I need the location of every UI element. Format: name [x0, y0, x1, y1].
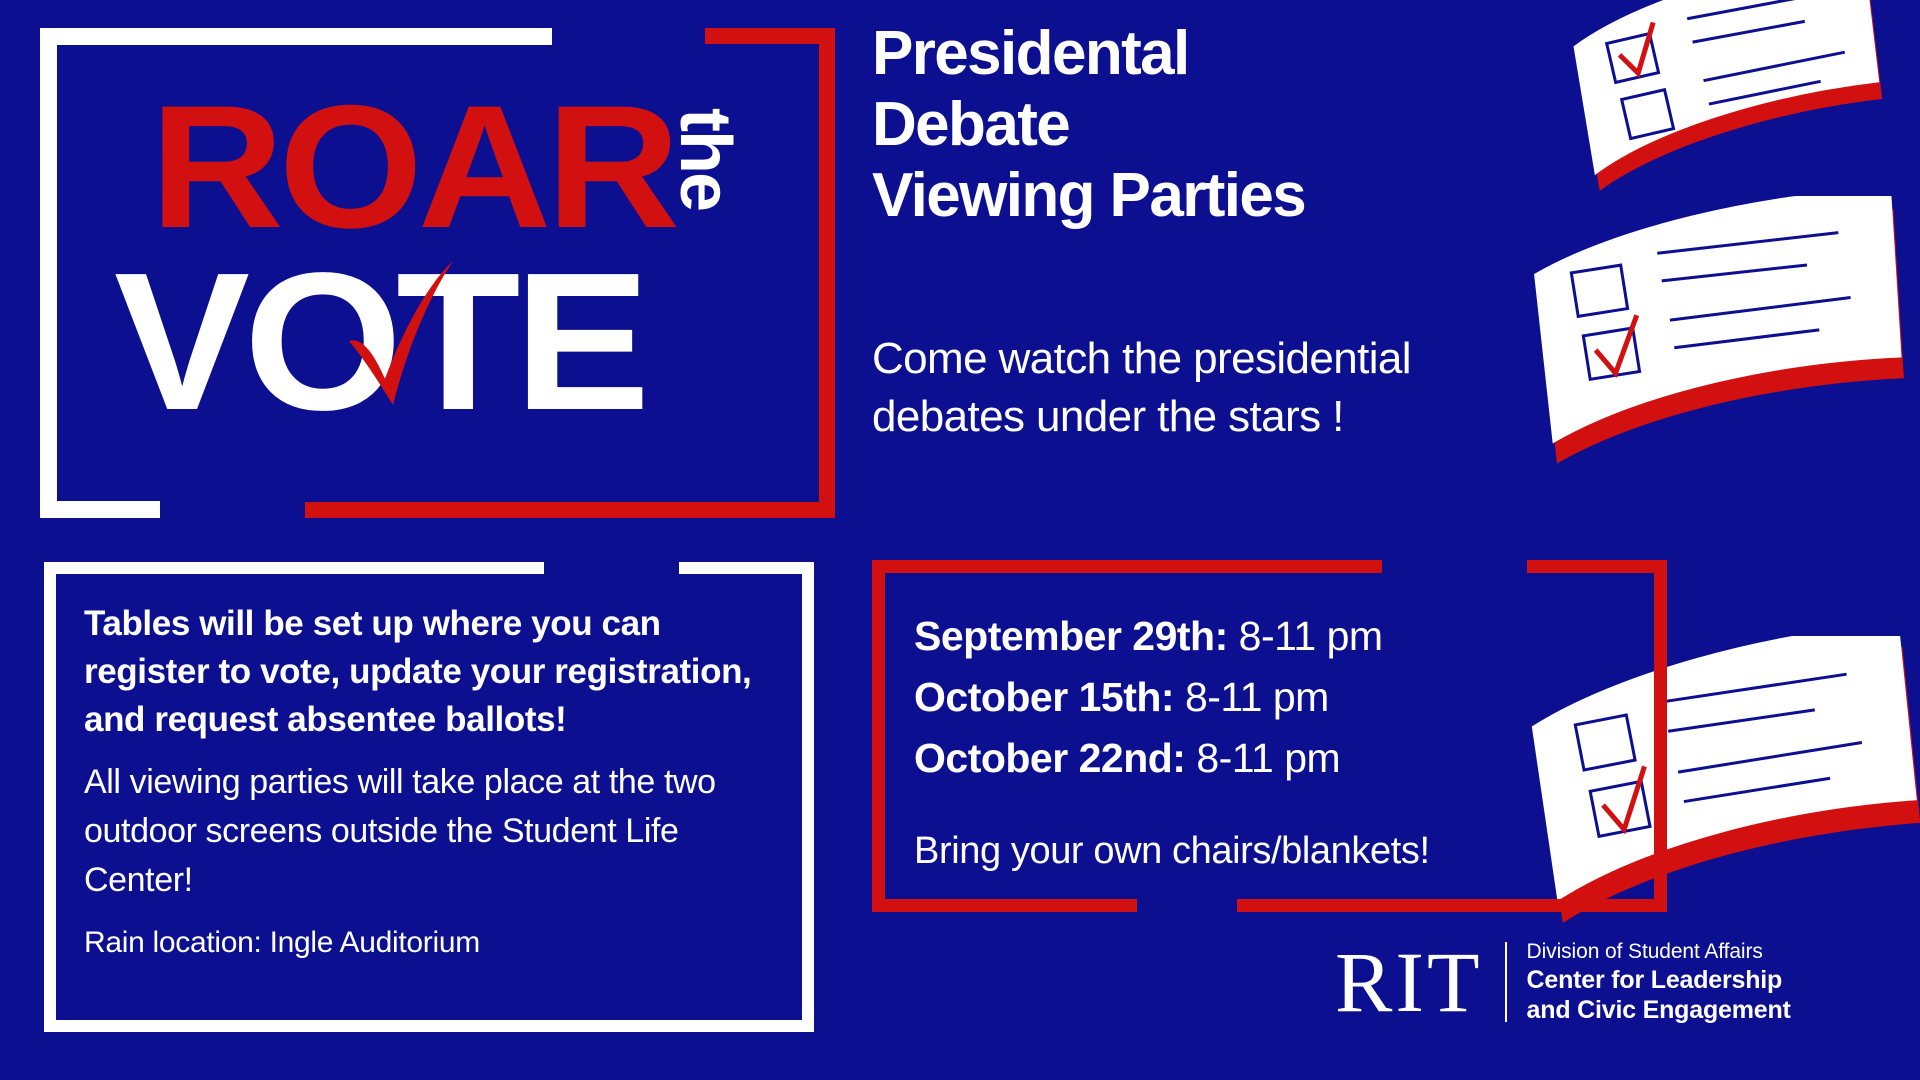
ballot-paper-icon [1506, 196, 1920, 486]
dates-list: September 29th: 8-11 pm October 15th: 8-… [914, 606, 1634, 875]
rit-center-line-2: and Civic Engagement [1527, 995, 1791, 1025]
info-box-border-right [802, 562, 814, 1032]
dates-box-border-top-right [1527, 560, 1667, 573]
title-line-3: Viewing Parties [872, 160, 1512, 231]
info-box-border-top-left [44, 562, 544, 574]
registration-info-box: Tables will be set up where you can regi… [44, 562, 814, 1032]
rit-center-line-1: Center for Leadership [1527, 965, 1791, 995]
info-box-border-bottom [44, 1020, 814, 1032]
ballot-paper-icon [1520, 0, 1920, 212]
subtitle-line-1: Come watch the presidential [872, 330, 1552, 388]
dates-box-border-right [1654, 560, 1667, 912]
event-time-label: 8-11 pm [1239, 613, 1383, 659]
info-box-border-left [44, 562, 56, 1032]
event-date-label: October 15th: [914, 674, 1174, 720]
info-box-content: Tables will be set up where you can regi… [84, 600, 784, 963]
event-dates-box: September 29th: 8-11 pm October 15th: 8-… [872, 560, 1667, 912]
event-date-label: September 29th: [914, 613, 1228, 659]
title-line-2: Debate [872, 89, 1512, 160]
logo-bracket-red-bottom [305, 502, 835, 518]
bring-your-own-note: Bring your own chairs/blankets! [914, 827, 1634, 875]
logo-word-vote: VOTE [114, 244, 644, 440]
logo-bracket-white-left [40, 28, 57, 518]
info-location-paragraph: All viewing parties will take place at t… [84, 758, 784, 905]
logo-bracket-red-right [819, 28, 835, 518]
subtitle-line-2: debates under the stars ! [872, 388, 1552, 446]
rit-logo-lockup: RIT Division of Student Affairs Center f… [1335, 938, 1791, 1025]
rit-wordmark: RIT [1335, 939, 1505, 1025]
roar-the-vote-logo: ROAR the VOTE [40, 28, 835, 518]
logo-bracket-white-bottom [40, 501, 160, 518]
logo-word-the: the [670, 108, 740, 210]
rit-logo-divider [1505, 942, 1507, 1022]
event-date-row: October 15th: 8-11 pm [914, 667, 1634, 728]
info-box-border-top-right [679, 562, 814, 574]
logo-word-roar: ROAR [150, 80, 675, 255]
event-date-row: October 22nd: 8-11 pm [914, 728, 1634, 789]
logo-bracket-red-top [705, 28, 835, 44]
rit-division-line: Division of Student Affairs [1527, 938, 1791, 965]
dates-box-border-top-left [872, 560, 1382, 573]
info-bold-paragraph: Tables will be set up where you can regi… [84, 600, 784, 744]
event-time-label: 8-11 pm [1185, 674, 1329, 720]
logo-bracket-white-top [40, 28, 552, 45]
page-title: Presidental Debate Viewing Parties [872, 18, 1512, 231]
logo-wordmark-group: ROAR the VOTE [98, 80, 798, 470]
dates-box-border-left [872, 560, 885, 912]
event-date-row: September 29th: 8-11 pm [914, 606, 1634, 667]
event-time-label: 8-11 pm [1196, 735, 1340, 781]
event-date-label: October 22nd: [914, 735, 1185, 781]
poster-canvas: ROAR the VOTE Presidental Debate Viewing… [0, 0, 1920, 1080]
page-subtitle: Come watch the presidential debates unde… [872, 330, 1552, 446]
title-line-1: Presidental [872, 18, 1512, 89]
info-rain-location: Rain location: Ingle Auditorium [84, 923, 784, 963]
rit-department-text: Division of Student Affairs Center for L… [1527, 938, 1791, 1025]
dates-box-border-bottom-left [872, 899, 1137, 912]
dates-box-border-bottom-right [1237, 899, 1667, 912]
